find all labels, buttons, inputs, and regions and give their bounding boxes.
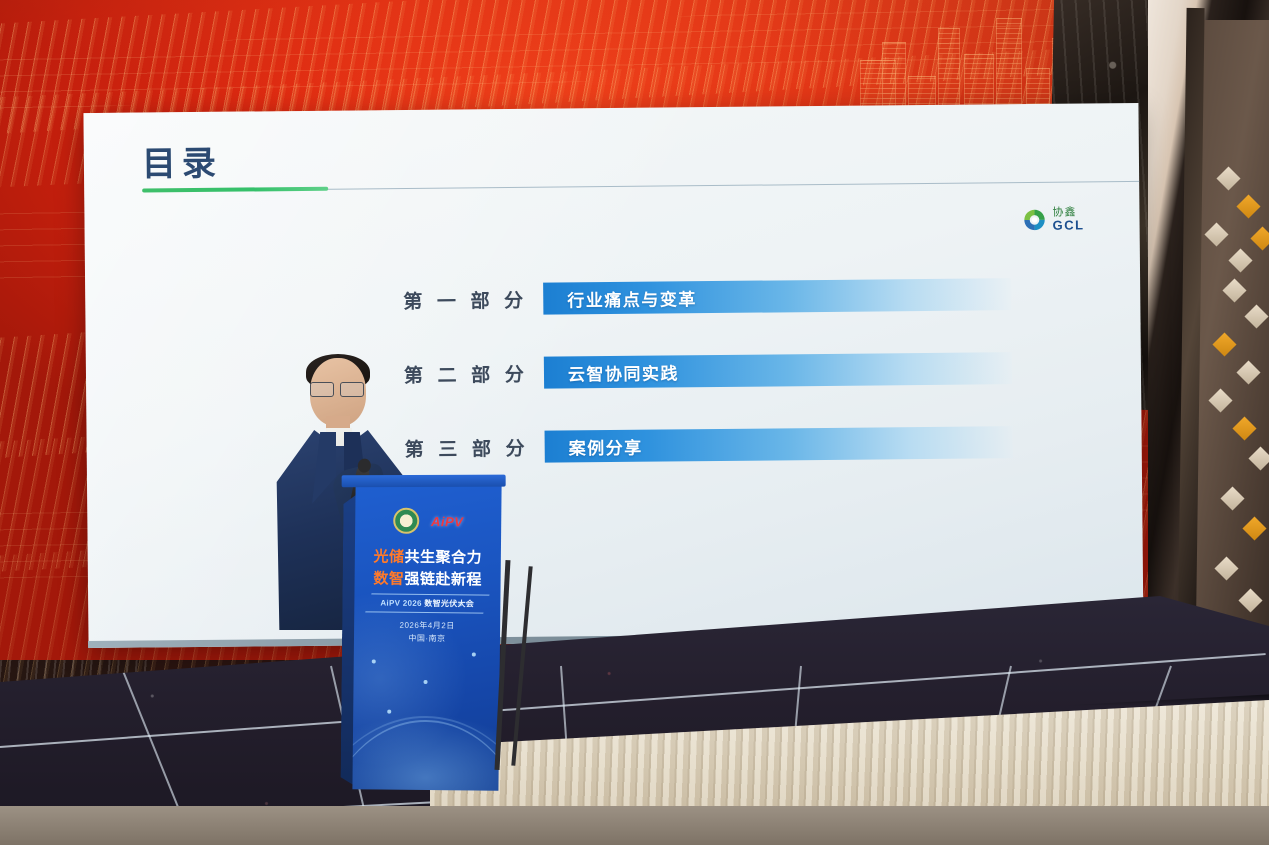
toc-gradient-bar: 案例分享	[545, 426, 1013, 462]
podium-headline-1-rest: 共生聚合力	[405, 549, 483, 567]
toc-section-title: 行业痛点与变革	[543, 285, 697, 311]
column-diamond-inlay	[1244, 304, 1268, 328]
list-item[interactable]: 第 一 部 分 行业痛点与变革	[85, 271, 1140, 325]
projection-screen: 目录 协鑫 GCL 第 一 部 分	[83, 103, 1143, 648]
list-item[interactable]: 第 二 部 分 云智协同实践	[86, 345, 1141, 399]
podium-ribbon-brand: AiPV 2026	[380, 599, 421, 608]
list-item[interactable]: 第 三 部 分 案例分享	[86, 419, 1141, 473]
toc-section-label: 第 三 部 分	[405, 433, 545, 461]
podium-top-surface	[342, 475, 506, 488]
column-diamond-inlay	[1212, 332, 1236, 356]
column-diamond-inlay	[1222, 278, 1246, 302]
podium-headline-1-highlight: 光储	[374, 548, 405, 565]
podium: AiPV 光储共生聚合力 数智强链赴新程 AiPV 2026 数智光伏大会 20…	[352, 483, 501, 795]
toc-section-title: 云智协同实践	[544, 359, 679, 385]
column-diamond-inlay	[1216, 166, 1240, 190]
podium-headline-2: 数智强链赴新程	[355, 567, 501, 590]
toc-section-title: 案例分享	[545, 433, 643, 459]
conference-seal-icon	[393, 508, 419, 534]
podium-headline-2-rest: 强链赴新程	[404, 571, 482, 589]
gcl-logo-en: GCL	[1053, 218, 1085, 231]
toc-gradient-bar: 行业痛点与变革	[543, 278, 1011, 314]
page-title: 目录	[142, 136, 222, 186]
toc-gradient-bar: 云智协同实践	[544, 352, 1012, 388]
podium-headline-1: 光储共生聚合力	[355, 545, 501, 568]
toc-section-label: 第 一 部 分	[403, 285, 543, 313]
column-diamond-inlay	[1214, 556, 1238, 580]
column-diamond-inlay	[1236, 194, 1260, 218]
column-diamond-inlay	[1220, 486, 1244, 510]
podium-logos: AiPV	[355, 507, 501, 535]
glasses-icon	[310, 382, 366, 395]
column-diamond-inlay	[1238, 588, 1262, 612]
column-diamond-inlay	[1204, 222, 1228, 246]
toc-section-label: 第 二 部 分	[404, 359, 544, 387]
podium-headline-2-highlight: 数智	[373, 570, 404, 587]
column-diamond-inlay	[1232, 416, 1256, 440]
presentation-slide: 目录 协鑫 GCL 第 一 部 分	[83, 103, 1143, 648]
table-of-contents: 第 一 部 分 行业痛点与变革 第 二 部 分 云智协同实践 第 三 部 分 案…	[85, 271, 1142, 503]
column-diamond-inlay	[1236, 360, 1260, 384]
column-inner-panel	[1196, 20, 1269, 660]
podium-arc-decor-2	[352, 715, 501, 791]
aipv-wordmark: AiPV	[431, 514, 463, 529]
podium-date: 2026年4月2日	[354, 619, 500, 632]
column-diamond-inlay	[1208, 388, 1232, 412]
gcl-pinwheel-icon	[1022, 208, 1046, 232]
podium-place: 中国·南京	[354, 632, 500, 645]
title-accent-bar	[142, 187, 328, 193]
column-diamond-inlay	[1228, 248, 1252, 272]
photo-scene: 目录 协鑫 GCL 第 一 部 分	[0, 0, 1269, 845]
column-diamond-inlay	[1250, 226, 1269, 250]
front-floor	[0, 806, 1269, 845]
gcl-logo-text: 协鑫 GCL	[1052, 207, 1084, 231]
podium-front-panel: AiPV 光储共生聚合力 数智强链赴新程 AiPV 2026 数智光伏大会 20…	[352, 483, 501, 791]
gcl-logo: 协鑫 GCL	[1022, 207, 1084, 232]
podium-ribbon: AiPV 2026 数智光伏大会	[365, 593, 489, 613]
podium-ribbon-text: 数智光伏大会	[424, 599, 474, 609]
column-diamond-inlay	[1248, 446, 1269, 470]
column-diamond-inlay	[1242, 516, 1266, 540]
